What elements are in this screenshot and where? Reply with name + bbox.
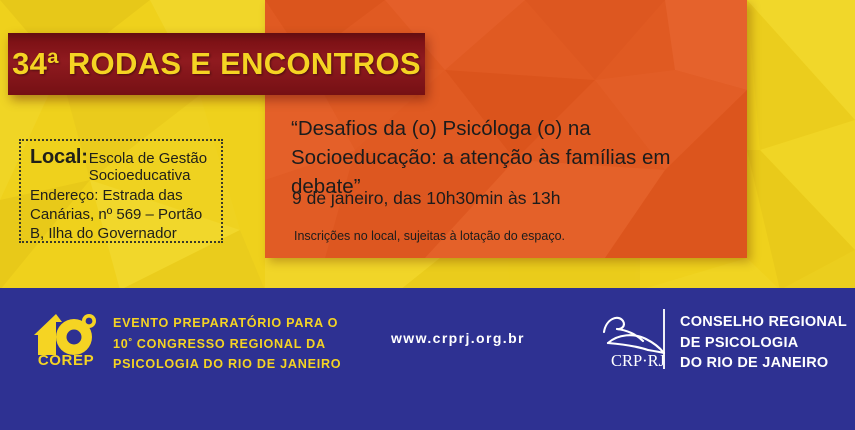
event-banner: 34ª RODAS E ENCONTROS Local: Escola de G… <box>0 0 855 430</box>
ribbon-title-text: 34ª RODAS E ENCONTROS <box>12 46 421 82</box>
event-datetime: 9 de janeiro, das 10h30min às 13h <box>292 188 561 209</box>
venue-info-box: Local: Escola de Gestão Socioeducativa E… <box>19 139 223 243</box>
venue-name-line-2: Socioeducativa <box>89 167 191 184</box>
crp-rj-monogram: CRP·RJ <box>611 351 666 368</box>
venue-name-line-1: Escola de Gestão <box>89 150 207 167</box>
venue-label: Local: <box>30 147 88 169</box>
corep-tagline-line-1: EVENTO PREPARATÓRIO PARA O <box>113 313 341 334</box>
crp-name-line-2: DE PSICOLOGIA <box>680 333 847 354</box>
event-title-ribbon: 34ª RODAS E ENCONTROS <box>8 33 425 95</box>
crp-rj-bird-logo-icon: CRP·RJ <box>596 310 680 368</box>
crp-rj-full-name: CONSELHO REGIONAL DE PSICOLOGIA DO RIO D… <box>680 312 847 374</box>
corep-wordmark: COREP <box>33 352 99 369</box>
corep-tagline: EVENTO PREPARATÓRIO PARA O 10º CONGRESSO… <box>113 313 341 375</box>
corep-tagline-congress-number: 10 <box>113 337 129 351</box>
crp-logo-divider <box>663 309 665 369</box>
corep-tagline-line-3: PSICOLOGIA DO RIO DE JANEIRO <box>113 354 341 375</box>
website-url[interactable]: www.crprj.org.br <box>391 330 525 346</box>
venue-headline: Local: Escola de Gestão Socioeducativa <box>30 147 214 185</box>
corep-tagline-line-2-rest: CONGRESSO REGIONAL DA <box>133 337 326 351</box>
venue-name: Escola de Gestão Socioeducativa <box>88 150 207 185</box>
event-registration-note: Inscrições no local, sujeitas à lotação … <box>294 229 565 243</box>
crp-name-line-3: DO RIO DE JANEIRO <box>680 353 847 374</box>
crp-name-line-1: CONSELHO REGIONAL <box>680 312 847 333</box>
venue-address: Endereço: Estrada das Canárias, nº 569 –… <box>30 186 214 244</box>
corep-tagline-line-2: 10º CONGRESSO REGIONAL DA <box>113 334 341 355</box>
